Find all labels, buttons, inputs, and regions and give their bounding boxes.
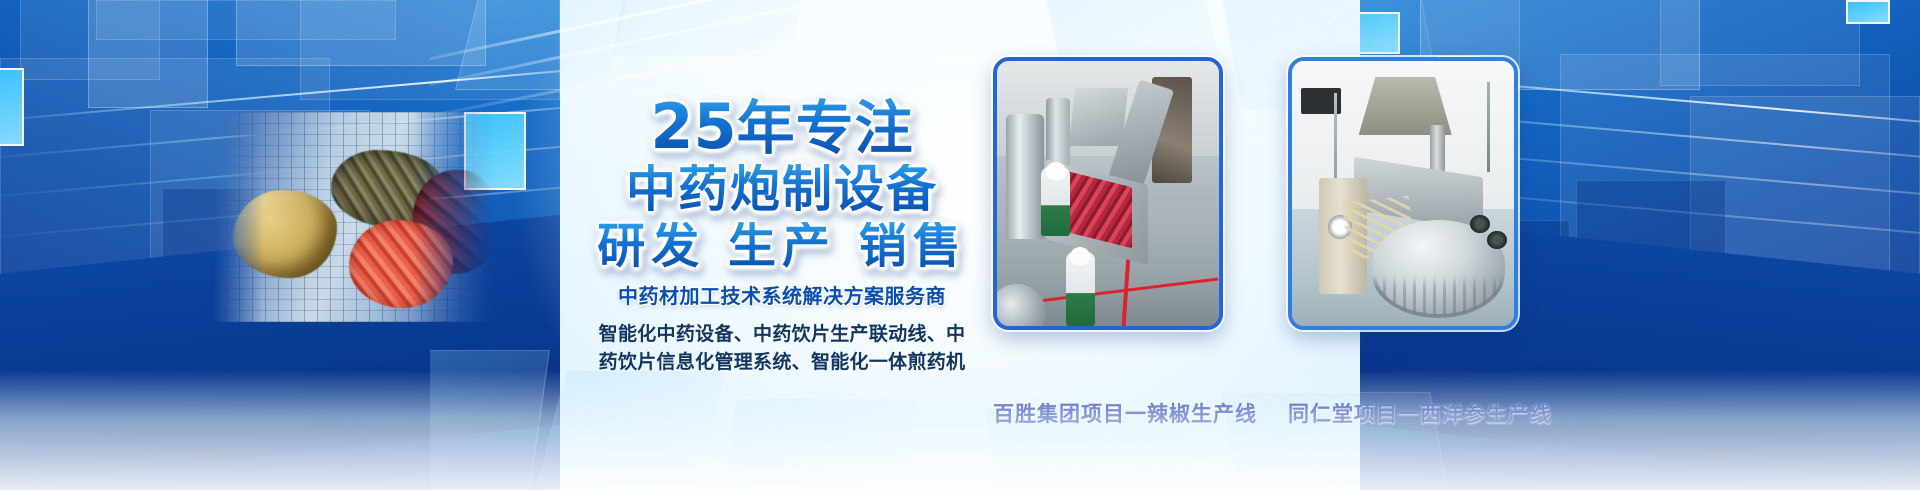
photo-caption-2: 同仁堂项目一西洋参生产线 <box>1288 398 1518 428</box>
chili-production-line-photo[interactable] <box>993 57 1223 330</box>
headline-copy-block: 25年专注 中药炮制设备 研发 生产 销售 中药材加工技术系统解决方案服务商 智… <box>596 96 968 376</box>
herbal-medicine-collage-image <box>213 112 493 322</box>
rotary-pan-rim <box>1372 223 1505 318</box>
description-line-1: 智能化中药设备、中药饮片生产联动线、中 <box>596 321 968 349</box>
stainless-tank <box>1006 114 1044 239</box>
vertical-pipe <box>1487 82 1490 172</box>
glass-shard <box>430 350 550 490</box>
headline-years-number: 25 <box>650 90 736 163</box>
chili-line-scene <box>997 61 1219 326</box>
goji-berry-pile <box>349 220 453 308</box>
ginseng-line-scene <box>1292 61 1514 326</box>
photo-caption-1: 百胜集团项目一辣椒生产线 <box>993 398 1223 428</box>
ginseng-production-line-photo[interactable] <box>1288 57 1518 330</box>
description-line-2: 药饮片信息化管理系统、智能化一体煎药机 <box>596 349 968 377</box>
promo-banner: 25年专注 中药炮制设备 研发 生产 销售 中药材加工技术系统解决方案服务商 智… <box>0 0 1920 490</box>
headline-line-1: 25年专注 <box>596 96 968 158</box>
worker-hat <box>1046 162 1066 181</box>
glass-shard <box>725 398 916 490</box>
tagline: 中药材加工技术系统解决方案服务商 <box>596 280 968 309</box>
yellow-herb-pile <box>233 190 337 278</box>
headline-line-2: 中药炮制设备 <box>596 164 968 214</box>
headline-years-label: 年专注 <box>737 94 914 162</box>
hand-valve <box>1470 215 1490 234</box>
glass-shard <box>534 370 726 490</box>
description-block: 智能化中药设备、中药饮片生产联动线、中 药饮片信息化管理系统、智能化一体煎药机 <box>596 321 968 376</box>
decor-highlight-square <box>0 68 24 146</box>
worker-hat <box>1070 247 1090 266</box>
decor-highlight-square <box>1846 0 1890 24</box>
headline-line-3: 研发 生产 销售 <box>596 222 968 270</box>
